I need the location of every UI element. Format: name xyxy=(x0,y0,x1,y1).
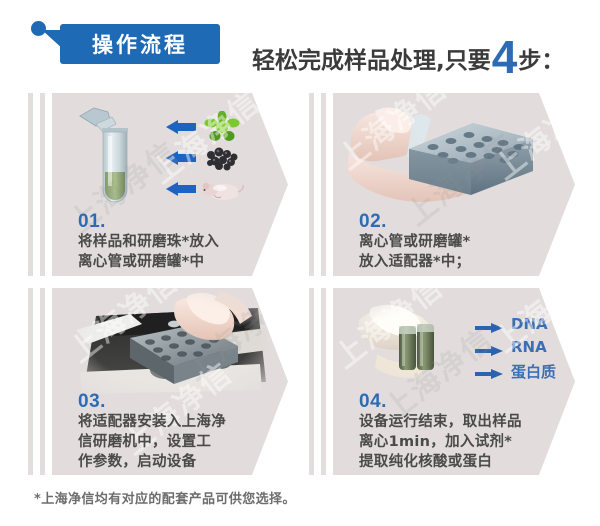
headline-step-count: 4 xyxy=(492,36,518,78)
centrifuge-tube-icon xyxy=(78,102,148,212)
step-card-03: 上海净信 上海净信 上海净信 03. 将适配器安装入上海净 信研磨机中，设置工 … xyxy=(26,288,288,475)
headline-suffix: 步： xyxy=(518,44,564,78)
headline: 轻松完成样品处理,只要 4 步： xyxy=(252,30,564,78)
card-side-bars xyxy=(26,93,52,276)
card-body: 上海净信 上海净信 上海净信 03. 将适配器安装入上海净 信研磨机中，设置工 … xyxy=(52,288,288,475)
badge-body: 操作流程 xyxy=(60,24,220,64)
output-label-dna: DNA xyxy=(511,315,548,333)
side-bar xyxy=(321,288,326,475)
card-text-04: 04. 设备运行结束，取出样品 离心1min，加入试剂* 提取纯化核酸或蛋白 xyxy=(359,391,522,472)
step-card-02: 上海净信 上海净信 上海净信 02. 离心管或研磨罐* 放入适配器*中； xyxy=(307,93,575,276)
arrow-right-icon xyxy=(475,345,503,357)
arrow-left-icon xyxy=(166,120,196,134)
card-body: 上海净信 上海净信 上海净信 02. 离心管或研磨罐* 放入适配器*中； xyxy=(333,93,575,276)
step-desc-line: 信研磨机中，设置工 xyxy=(78,432,226,452)
arrow-left-icon xyxy=(166,151,196,165)
step-desc-line: 离心管或研磨罐*中 xyxy=(78,252,219,272)
card-body: DNA RNA 蛋白质 上海净信 上海净信 上海净信 04. 设备运行结束，取出… xyxy=(333,288,575,475)
step-desc-line: 离心管或研磨罐* xyxy=(359,232,470,252)
hand-adapter-photo xyxy=(347,97,537,209)
leaf-icon xyxy=(204,111,240,145)
card-side-bars xyxy=(307,288,333,475)
card-text-01: 01. 将样品和研磨珠*放入 离心管或研磨罐*中 xyxy=(78,211,219,272)
grinding-beads-icon xyxy=(202,143,242,173)
step-number: 01. xyxy=(78,211,219,232)
side-bar xyxy=(309,93,314,276)
step-number: 04. xyxy=(359,391,522,412)
card-text-03: 03. 将适配器安装入上海净 信研磨机中，设置工 作参数，启动设备 xyxy=(78,391,226,472)
infographic-page: 操作流程 轻松完成样品处理,只要 4 步： xyxy=(0,0,600,526)
card-text-02: 02. 离心管或研磨罐* 放入适配器*中； xyxy=(359,211,470,272)
step-card-04: DNA RNA 蛋白质 上海净信 上海净信 上海净信 04. 设备运行结束，取出… xyxy=(307,288,575,475)
grinder-loading-photo xyxy=(70,290,270,394)
side-bar xyxy=(321,93,326,276)
side-bar xyxy=(309,288,314,475)
output-label-protein: 蛋白质 xyxy=(511,361,556,382)
section-badge: 操作流程 xyxy=(60,24,220,64)
step-desc-line: 作参数，启动设备 xyxy=(78,452,226,472)
mouse-icon xyxy=(200,177,244,203)
step-number: 02. xyxy=(359,211,470,232)
card-side-bars xyxy=(307,93,333,276)
badge-label: 操作流程 xyxy=(92,29,188,59)
side-bar xyxy=(40,93,45,276)
output-label-rna: RNA xyxy=(511,338,547,356)
step-desc-line: 将样品和研磨珠*放入 xyxy=(78,232,219,252)
arrow-left-icon xyxy=(166,182,196,196)
card-side-bars xyxy=(26,288,52,475)
step-desc-line: 设备运行结束，取出样品 xyxy=(359,412,522,432)
step-desc-line: 将适配器安装入上海净 xyxy=(78,412,226,432)
gloved-hand-tubes-photo xyxy=(355,302,465,384)
headline-prefix: 轻松完成样品处理,只要 xyxy=(252,44,491,78)
card-body: 上海净信 上海净信 01. 将样品和研磨珠*放入 离心管或研磨罐*中 xyxy=(52,93,288,276)
arrow-right-icon xyxy=(475,368,503,380)
side-bar xyxy=(28,93,33,276)
header: 操作流程 轻松完成样品处理,只要 4 步： xyxy=(0,0,600,88)
step-desc-line: 提取纯化核酸或蛋白 xyxy=(359,452,522,472)
side-bar xyxy=(28,288,33,475)
step-number: 03. xyxy=(78,391,226,412)
step-desc-line: 离心1min，加入试剂* xyxy=(359,432,522,452)
step-card-01: 上海净信 上海净信 01. 将样品和研磨珠*放入 离心管或研磨罐*中 xyxy=(26,93,288,276)
step-desc-line: 放入适配器*中； xyxy=(359,252,470,272)
arrow-right-icon xyxy=(475,322,503,334)
footer-note: *上海净信均有对应的配套产品可供您选择。 xyxy=(34,488,296,507)
side-bar xyxy=(40,288,45,475)
